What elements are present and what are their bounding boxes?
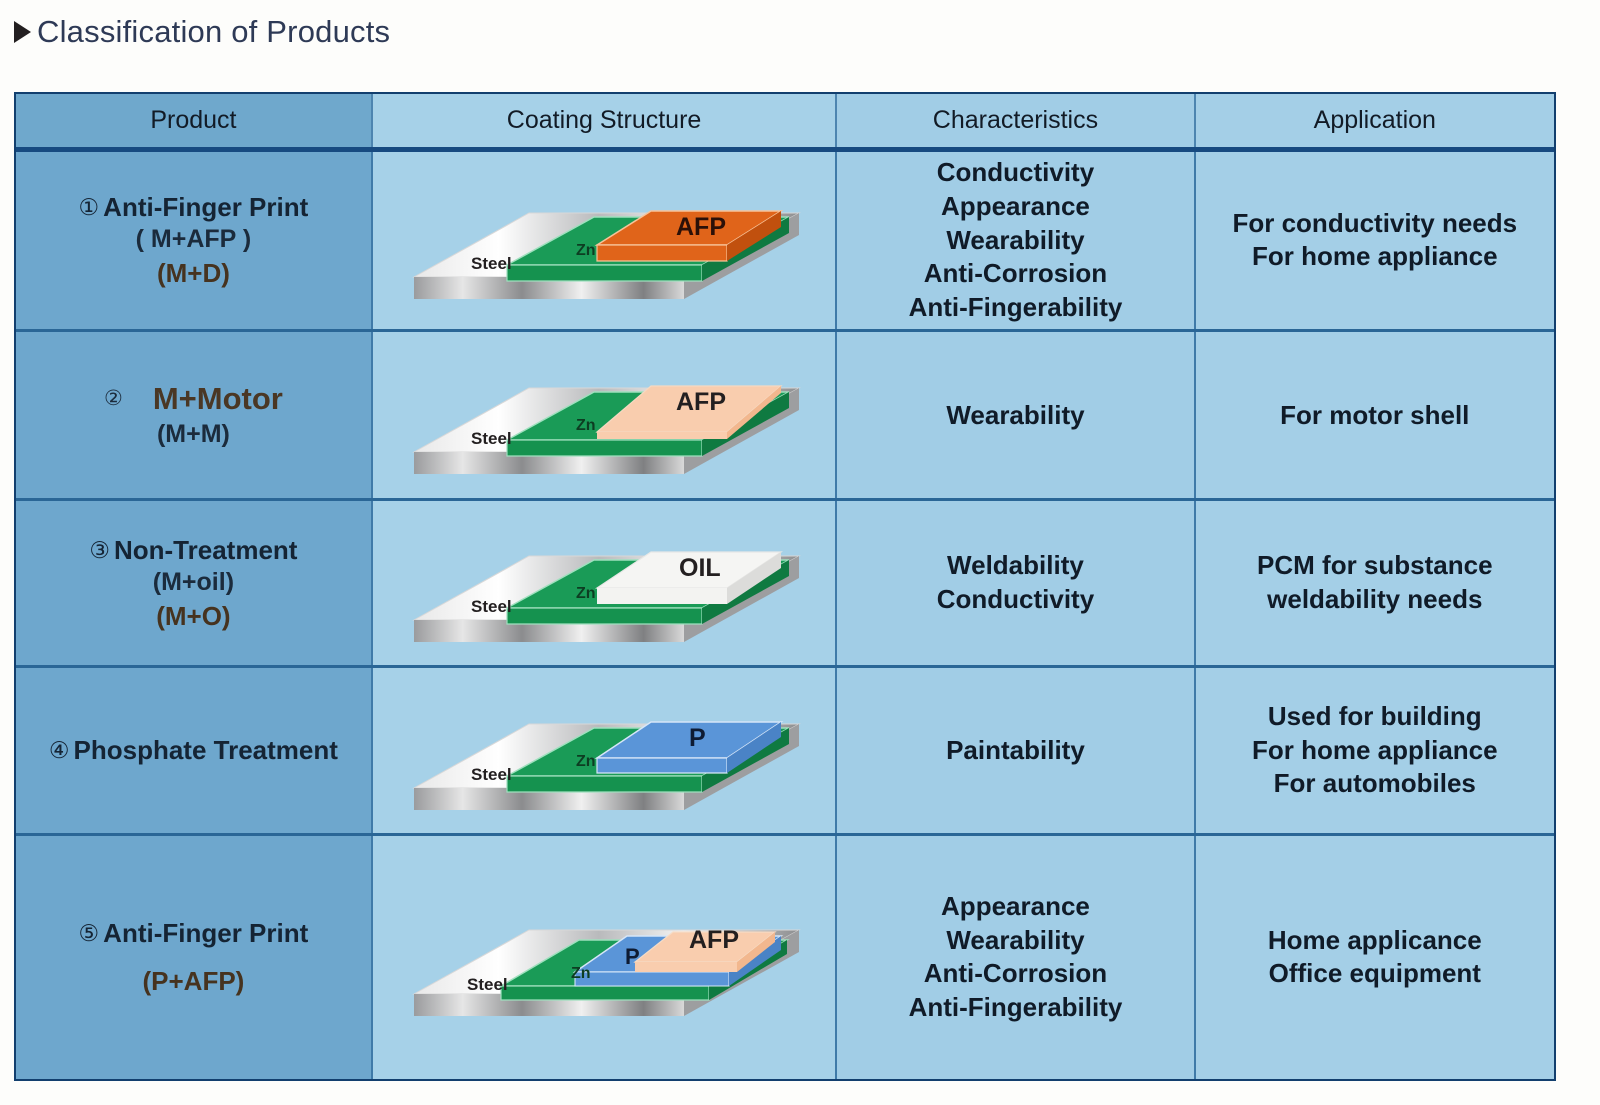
column-header-characteristics: Characteristics xyxy=(837,94,1195,147)
application-list: Used for building For home appliance For… xyxy=(1252,700,1498,801)
diagram-label-zn: Zn xyxy=(576,753,596,770)
product-index: ① xyxy=(79,194,100,220)
list-item: Weldability xyxy=(937,549,1094,583)
application-cell: Home applicance Office equipment xyxy=(1196,836,1554,1079)
diagram-label-top: AFP xyxy=(689,926,739,954)
list-item: PCM for substance xyxy=(1257,549,1493,583)
list-item: Home applicance xyxy=(1268,924,1482,958)
list-item: Appearance xyxy=(909,890,1123,924)
diagram-label-steel: Steel xyxy=(471,254,512,273)
column-header-coating-structure: Coating Structure xyxy=(373,94,837,147)
application-cell: For conductivity needs For home applianc… xyxy=(1196,152,1554,329)
diagram-label-steel: Steel xyxy=(471,765,512,784)
list-item: Wearability xyxy=(909,924,1123,958)
product-subtitle: (M+oil) xyxy=(89,568,297,598)
product-title-line: ④Phosphate Treatment xyxy=(49,735,338,766)
product-index: ⑤ xyxy=(79,920,100,946)
product-title-line: ⑤Anti-Finger Print xyxy=(79,918,309,949)
list-item: For conductivity needs xyxy=(1232,207,1517,241)
product-code: (M+D) xyxy=(79,258,309,289)
product-title-line: ③Non-Treatment xyxy=(89,535,297,566)
coating-structure-cell: Steel Zn OIL xyxy=(373,501,837,665)
page-root: Classification of Products Product Coati… xyxy=(0,0,1600,1105)
page-title-label: Classification of Products xyxy=(37,14,390,50)
diagram-label-zn: Zn xyxy=(576,417,596,434)
table-row: ①Anti-Finger Print ( M+AFP ) (M+D) xyxy=(16,152,1554,332)
application-cell: PCM for substance weldability needs xyxy=(1196,501,1554,665)
characteristics-cell: Weldability Conductivity xyxy=(837,501,1195,665)
list-item: Office equipment xyxy=(1268,957,1482,991)
product-index: ③ xyxy=(89,537,110,563)
diagram-label-top: P xyxy=(689,724,706,752)
application-list: PCM for substance weldability needs xyxy=(1257,549,1493,617)
product-cell: ④Phosphate Treatment xyxy=(16,668,373,832)
product-title-line: ①Anti-Finger Print xyxy=(79,192,309,223)
application-list: Home applicance Office equipment xyxy=(1268,924,1482,992)
list-item: Used for building xyxy=(1252,700,1498,734)
list-item: Conductivity xyxy=(909,156,1123,190)
product-cell: ⑤Anti-Finger Print (P+AFP) xyxy=(16,836,373,1079)
diagram-label-zn: Zn xyxy=(576,585,596,602)
list-item: For automobiles xyxy=(1252,767,1498,801)
coating-diagram-3-layer: Steel Zn AFP xyxy=(389,165,819,315)
product-index: ② xyxy=(104,387,123,412)
list-item: For home appliance xyxy=(1252,734,1498,768)
column-header-characteristics-label: Characteristics xyxy=(933,106,1098,135)
product-code: (P+AFP) xyxy=(79,966,309,997)
list-item: weldability needs xyxy=(1257,583,1493,617)
characteristics-cell: Paintability xyxy=(837,668,1195,832)
column-header-product: Product xyxy=(16,94,373,147)
application-list: For motor shell xyxy=(1280,400,1469,431)
product-cell: ② M+Motor (M+M) xyxy=(16,332,373,498)
table-row: ③Non-Treatment (M+oil) (M+O) xyxy=(16,501,1554,668)
coating-structure-cell: Steel Zn P AFP xyxy=(373,836,837,1079)
characteristics-list: Weldability Conductivity xyxy=(937,549,1094,617)
coating-diagram-3-layer: Steel Zn AFP xyxy=(389,340,819,490)
characteristics-list: Conductivity Appearance Wearability Anti… xyxy=(909,156,1123,325)
column-header-application-label: Application xyxy=(1314,106,1436,135)
product-name: Phosphate Treatment xyxy=(74,735,338,765)
product-name: Anti-Finger Print xyxy=(103,918,308,948)
product-text: ④Phosphate Treatment xyxy=(49,735,338,766)
coating-structure-cell: Steel Zn P xyxy=(373,668,837,832)
coating-diagram-3-layer: Steel Zn P xyxy=(389,676,819,826)
diagram-label-top: AFP xyxy=(676,213,726,241)
coating-diagram-3-layer: Steel Zn OIL xyxy=(389,508,819,658)
column-header-coating-structure-label: Coating Structure xyxy=(507,106,702,135)
diagram-label-steel: Steel xyxy=(471,597,512,616)
application-cell: Used for building For home appliance For… xyxy=(1196,668,1554,832)
coating-structure-cell: Steel Zn AFP xyxy=(373,152,837,329)
coating-diagram-4-layer: Steel Zn P AFP xyxy=(389,882,819,1032)
product-cell: ③Non-Treatment (M+oil) (M+O) xyxy=(16,501,373,665)
product-index: ④ xyxy=(49,737,70,763)
diagram-label-steel: Steel xyxy=(471,429,512,448)
product-text: ③Non-Treatment (M+oil) (M+O) xyxy=(89,535,297,631)
characteristics-cell: Conductivity Appearance Wearability Anti… xyxy=(837,152,1195,329)
product-code: (M+O) xyxy=(89,601,297,632)
list-item: Anti-Fingerability xyxy=(909,291,1123,325)
characteristics-list: Appearance Wearability Anti-Corrosion An… xyxy=(909,890,1123,1025)
list-item: Conductivity xyxy=(937,583,1094,617)
list-item: Anti-Fingerability xyxy=(909,991,1123,1025)
list-item: Anti-Corrosion xyxy=(909,257,1123,291)
product-subtitle: (M+M) xyxy=(104,420,283,450)
application-cell: For motor shell xyxy=(1196,332,1554,498)
list-item: For home appliance xyxy=(1232,240,1517,274)
product-cell: ①Anti-Finger Print ( M+AFP ) (M+D) xyxy=(16,152,373,329)
classification-table: Product Coating Structure Characteristic… xyxy=(14,92,1556,1081)
list-item: Wearability xyxy=(909,224,1123,258)
page-title: Classification of Products xyxy=(14,14,390,50)
coating-structure-cell: Steel Zn AFP xyxy=(373,332,837,498)
product-name: Anti-Finger Print xyxy=(103,192,308,222)
table-row: ⑤Anti-Finger Print (P+AFP) xyxy=(16,836,1554,1079)
list-item: Anti-Corrosion xyxy=(909,957,1123,991)
table-row: ② M+Motor (M+M) xyxy=(16,332,1554,501)
column-header-product-label: Product xyxy=(150,106,236,135)
list-item: Appearance xyxy=(909,190,1123,224)
column-header-application: Application xyxy=(1196,94,1554,147)
diagram-label-zn: Zn xyxy=(576,242,596,259)
product-name: M+Motor xyxy=(153,381,283,418)
product-text: ⑤Anti-Finger Print (P+AFP) xyxy=(79,918,309,997)
table-header-row: Product Coating Structure Characteristic… xyxy=(16,94,1554,152)
diagram-label-p: P xyxy=(625,944,640,969)
product-name: Non-Treatment xyxy=(114,535,297,565)
application-list: For conductivity needs For home applianc… xyxy=(1232,207,1517,275)
characteristics-cell: Wearability xyxy=(837,332,1195,498)
diagram-label-top: AFP xyxy=(676,388,726,416)
characteristics-list: Wearability xyxy=(946,400,1084,431)
triangle-right-icon xyxy=(14,21,31,43)
diagram-label-zn: Zn xyxy=(571,965,591,982)
product-title-line: ② M+Motor xyxy=(104,381,283,418)
product-text: ② M+Motor (M+M) xyxy=(104,381,283,449)
table-row: ④Phosphate Treatment xyxy=(16,668,1554,835)
characteristics-list: Paintability xyxy=(946,735,1085,766)
product-text: ①Anti-Finger Print ( M+AFP ) (M+D) xyxy=(79,192,309,288)
diagram-label-top: OIL xyxy=(679,554,721,582)
characteristics-cell: Appearance Wearability Anti-Corrosion An… xyxy=(837,836,1195,1079)
diagram-label-steel: Steel xyxy=(467,975,508,994)
product-subtitle: ( M+AFP ) xyxy=(79,225,309,255)
